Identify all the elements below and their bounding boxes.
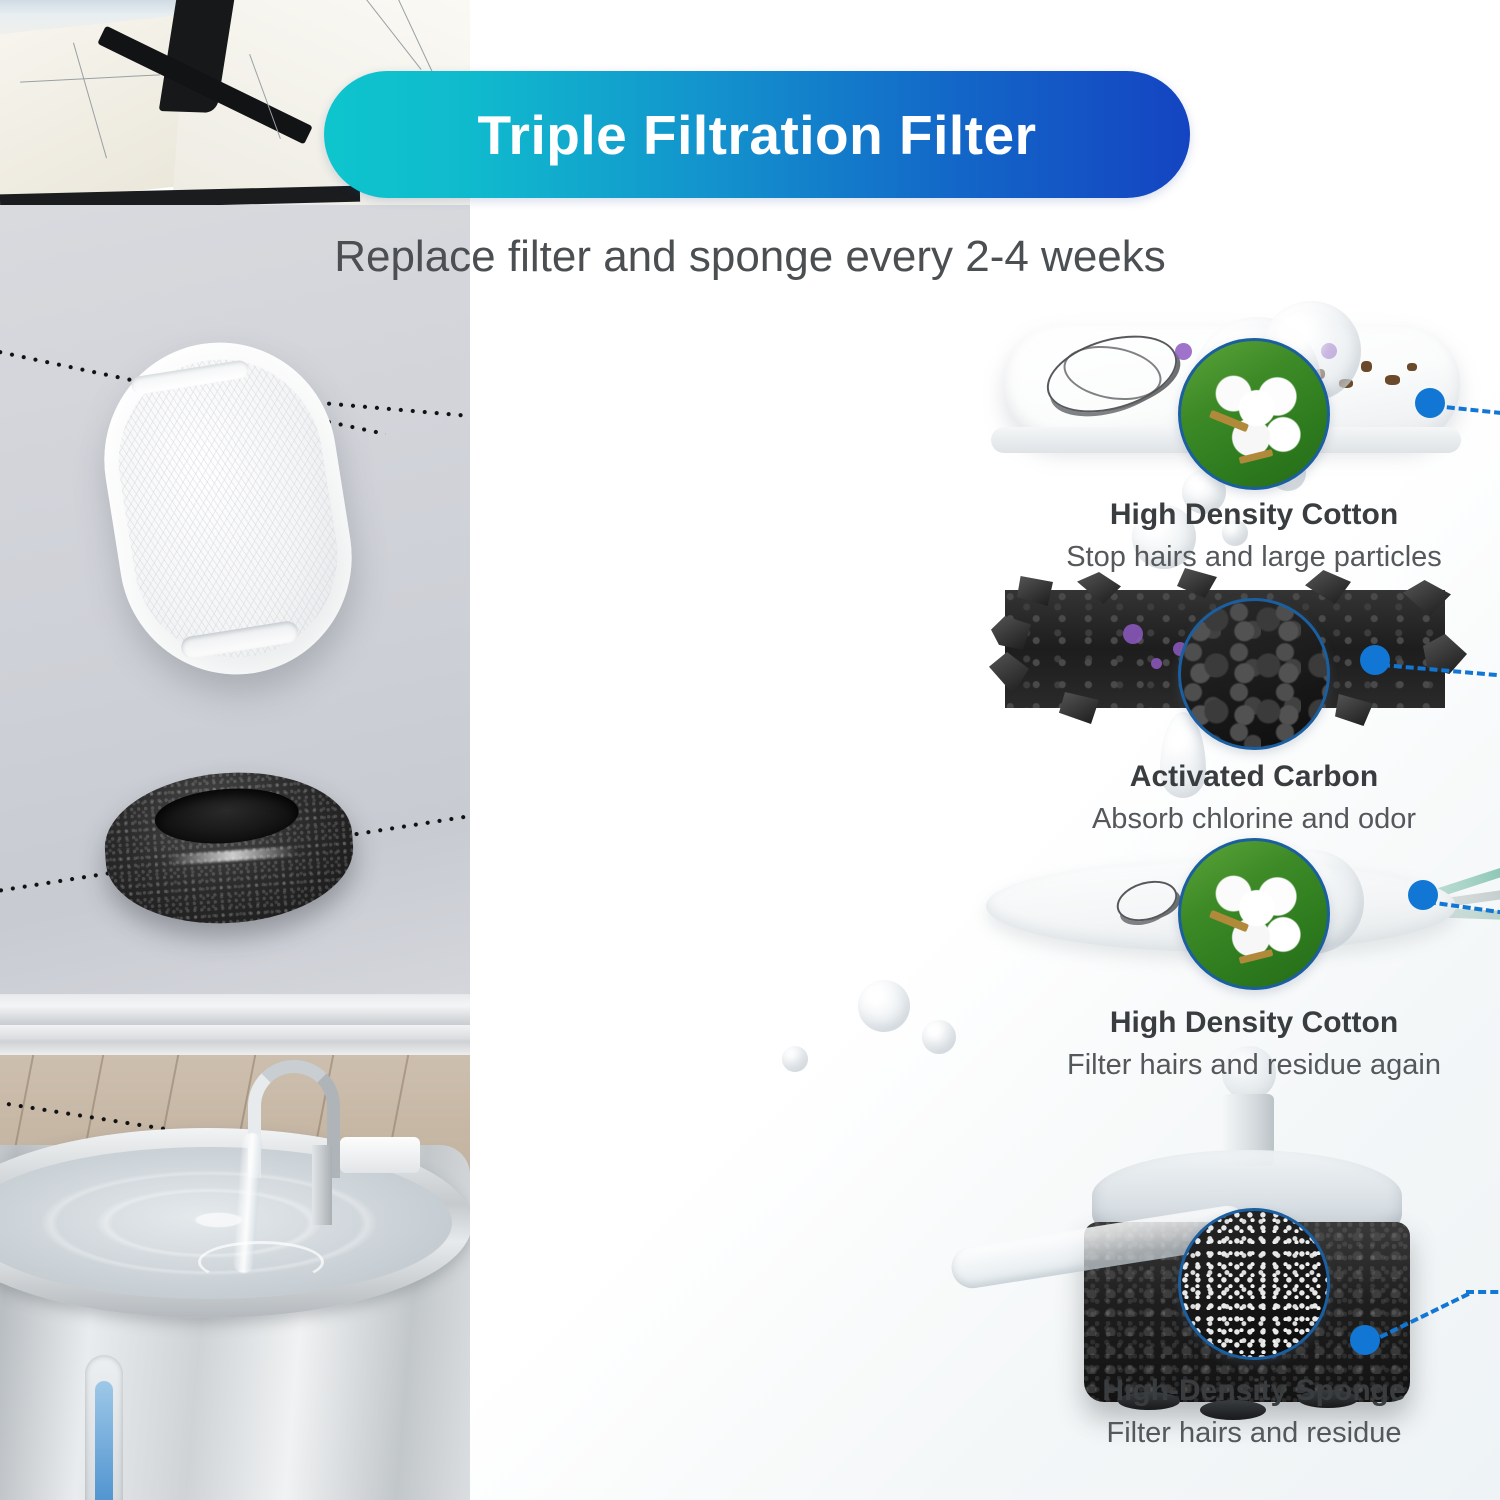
stainless-steel-pet-fountain-photo	[0, 1025, 470, 1500]
carbon-chunk	[1059, 692, 1099, 724]
feature-title: Activated Carbon	[1019, 758, 1489, 796]
germ-particle	[1151, 658, 1162, 669]
banner-title: Triple Filtration Filter	[478, 103, 1037, 167]
activated-carbon-icon	[1178, 598, 1330, 750]
feature-description: Absorb chlorine and odor	[1019, 801, 1489, 839]
connector-line-sponge	[1466, 1290, 1500, 1294]
feature-title: High Density Cotton	[1019, 1004, 1489, 1042]
feature-description: Stop hairs and large particles	[1019, 539, 1489, 577]
feature-label-sponge: High-Density Sponge Filter hairs and res…	[1019, 1372, 1489, 1452]
infographic-page: High Density Cotton Stop hairs and large…	[0, 0, 1500, 1500]
cotton-stem	[1239, 449, 1274, 464]
cotton-stem	[1209, 910, 1249, 932]
feature-label-carbon: Activated Carbon Absorb chlorine and odo…	[1019, 758, 1489, 838]
hair-swirl-icon	[1112, 874, 1182, 928]
subtitle-text: Replace filter and sponge every 2-4 week…	[285, 232, 1215, 282]
carbon-chunk	[1403, 580, 1451, 616]
water-bubble	[782, 1046, 808, 1072]
feature-title: High-Density Sponge	[1019, 1372, 1489, 1410]
fountain-spout-stem	[312, 1145, 332, 1225]
debris-particle	[1361, 361, 1372, 372]
carbon-chunk	[991, 616, 1031, 650]
right-diagram-column: High Density Cotton Stop hairs and large…	[470, 0, 1500, 1500]
feature-description: Filter hairs and residue again	[1019, 1047, 1489, 1085]
connector-dot-cotton-1	[1415, 388, 1445, 418]
carbon-chunk	[1077, 572, 1121, 604]
white-oval-filter-cartridge-icon	[87, 326, 368, 691]
feature-title: High Density Cotton	[1019, 496, 1489, 534]
carbon-chunk	[989, 652, 1029, 694]
filter-parts-photo	[0, 205, 470, 1025]
feature-label-cotton-2: High Density Cotton Filter hairs and res…	[1019, 1004, 1489, 1084]
germ-particle	[1123, 624, 1143, 644]
debris-particle	[1407, 363, 1417, 371]
connector-dot-cotton-2	[1408, 880, 1438, 910]
water-level-indicator	[95, 1381, 113, 1500]
cotton-boll-icon	[1178, 338, 1330, 490]
connector-dot-carbon	[1360, 645, 1390, 675]
debris-particle	[1385, 375, 1400, 385]
water-bubble	[922, 1020, 956, 1054]
baseboard-trim	[0, 1025, 470, 1055]
feature-description: Filter hairs and residue	[1019, 1415, 1489, 1453]
left-photo-column	[0, 0, 470, 1500]
water-bubble	[858, 980, 910, 1032]
feature-label-cotton-1: High Density Cotton Stop hairs and large…	[1019, 496, 1489, 576]
title-banner: Triple Filtration Filter	[324, 71, 1190, 198]
carbon-chunk	[1017, 576, 1053, 606]
fountain-white-module	[340, 1137, 420, 1173]
germ-particle	[1175, 343, 1192, 360]
carbon-chunk	[1335, 694, 1373, 726]
sponge-foam-icon	[1178, 1208, 1330, 1360]
cotton-stem	[1209, 410, 1249, 432]
cotton-boll-icon	[1178, 838, 1330, 990]
black-ring-sponge-icon	[100, 765, 358, 932]
water-splash-ring	[198, 1241, 324, 1283]
cotton-stem	[1239, 949, 1274, 964]
wall-baseboard	[0, 994, 470, 1025]
